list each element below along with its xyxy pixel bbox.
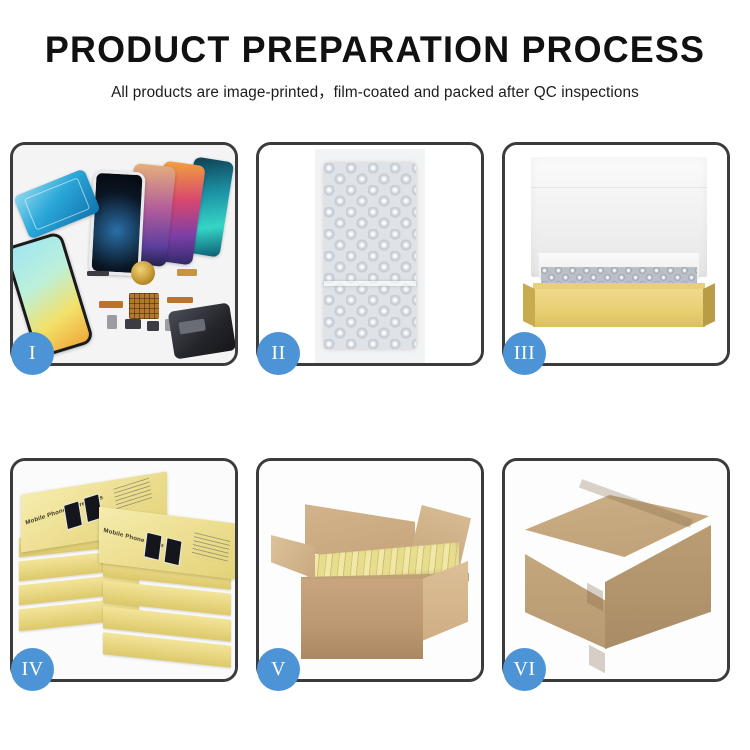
- box-artwork-screen-icon: [143, 532, 162, 561]
- box-artwork-screen-icon: [163, 537, 182, 566]
- process-step-card-6[interactable]: VI: [502, 458, 730, 682]
- step-badge-6: VI: [503, 648, 546, 691]
- circuit-board-icon: [129, 293, 159, 319]
- step-badge-2: II: [257, 332, 300, 375]
- process-step-card-3[interactable]: III: [502, 142, 730, 366]
- step-1-image: [13, 145, 235, 363]
- button-part-icon: [147, 321, 159, 331]
- retail-box-stack-icon: Mobile Phone Spare Parts Mobile Phone Sp…: [17, 473, 235, 673]
- kraft-inner-box-icon: [533, 289, 705, 327]
- page-subtitle: All products are image-printed，film-coat…: [0, 80, 750, 102]
- spare-parts-group: [85, 257, 235, 357]
- open-carton-icon: [301, 579, 423, 659]
- part-chip-icon: [87, 271, 109, 276]
- process-step-card-1[interactable]: I: [10, 142, 238, 366]
- step-3-image: [505, 145, 727, 363]
- step-6-image: [505, 461, 727, 679]
- page-header: PRODUCT PREPARATION PROCESS All products…: [0, 0, 750, 102]
- page-title: PRODUCT PREPARATION PROCESS: [11, 30, 739, 71]
- screen-adhesive-icon: [13, 168, 101, 239]
- step-badge-4: IV: [11, 648, 54, 691]
- ribbon-cable-icon: [99, 301, 123, 308]
- camera-module-icon: [125, 319, 141, 329]
- process-step-card-4[interactable]: Mobile Phone Spare Parts Mobile Phone Sp…: [10, 458, 238, 682]
- bubble-wrap-seal: [324, 281, 416, 286]
- ribbon-cable-2-icon: [167, 297, 193, 303]
- box-spec-lines: [113, 478, 152, 512]
- step-2-image: [259, 145, 481, 363]
- process-step-card-5[interactable]: V: [256, 458, 484, 682]
- process-step-grid: I II III: [10, 142, 740, 740]
- process-step-card-2[interactable]: II: [256, 142, 484, 366]
- product-preparation-process-page: PRODUCT PREPARATION PROCESS All products…: [0, 0, 750, 750]
- speaker-coil-icon: [131, 261, 155, 285]
- phone-backplate-icon: [168, 302, 235, 359]
- sim-tray-icon: [107, 315, 117, 329]
- flex-cable-icon: [177, 269, 197, 276]
- step-badge-5: V: [257, 648, 300, 691]
- box-spec-lines: [192, 532, 231, 564]
- carton-edge-tab: [589, 645, 605, 674]
- step-badge-1: I: [11, 332, 54, 375]
- step-5-image: [259, 461, 481, 679]
- step-4-image: Mobile Phone Spare Parts Mobile Phone Sp…: [13, 461, 235, 679]
- bubble-wrap-icon: [324, 163, 416, 349]
- step-badge-3: III: [503, 332, 546, 375]
